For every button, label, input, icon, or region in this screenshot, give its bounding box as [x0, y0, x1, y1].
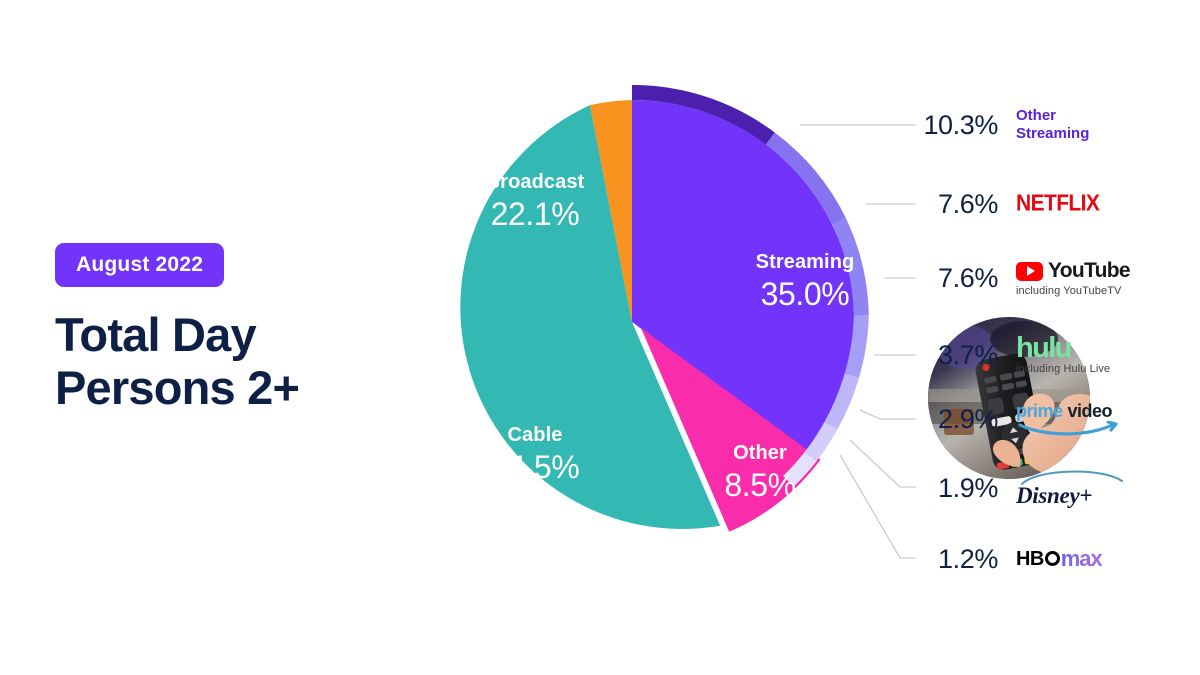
page-title: Total Day Persons 2+ — [55, 309, 385, 414]
legend-percent-netflix: 7.6% — [915, 189, 998, 220]
legend-item-netflix[interactable]: 7.6% NETFLIX — [915, 181, 1099, 227]
legend-logo-hbo-max: HB max — [1016, 546, 1102, 572]
date-badge: August 2022 — [55, 243, 224, 287]
max-wordmark: max — [1061, 546, 1102, 572]
legend-item-hulu[interactable]: 3.7% hulu including Hulu Live — [915, 332, 1110, 378]
legend-logo-netflix: NETFLIX — [1016, 192, 1099, 216]
legend-logo-youtube: YouTube including YouTubeTV — [1016, 259, 1130, 297]
youtube-sublabel: including YouTubeTV — [1016, 285, 1130, 297]
amazon-swoosh-icon — [1016, 421, 1124, 437]
disney-plus-wordmark: Disney+ — [1016, 483, 1128, 509]
legend-item-hbo-max[interactable]: 1.2% HB max — [915, 536, 1102, 582]
prime-wordmark: prime — [1016, 401, 1063, 422]
hbo-max-logo: HB max — [1016, 546, 1102, 572]
legend-percent-hbo-max: 1.2% — [915, 544, 998, 575]
legend-item-youtube[interactable]: 7.6% YouTube including YouTubeTV — [915, 255, 1130, 301]
legend-logo-prime-video: prime video — [1016, 401, 1124, 437]
legend-percent-hulu: 3.7% — [915, 340, 998, 371]
title-block: August 2022 Total Day Persons 2+ — [55, 243, 385, 414]
legend-percent-disney-plus: 1.9% — [915, 473, 998, 504]
infographic-canvas: August 2022 Total Day Persons 2+ — [0, 0, 1200, 675]
pie-chart: Broadcast 22.1% Streaming 35.0% Cable 34… — [372, 62, 892, 582]
legend-item-prime-video[interactable]: 2.9% prime video — [915, 396, 1124, 442]
hulu-logo: hulu — [1016, 335, 1110, 361]
video-wordmark: video — [1068, 401, 1113, 422]
legend-percent-other-streaming: 10.3% — [915, 110, 998, 141]
legend-logo-other-streaming: Other Streaming — [1016, 107, 1089, 142]
legend-logo-disney-plus: Disney+ — [1016, 467, 1128, 509]
youtube-wordmark: YouTube — [1048, 259, 1130, 283]
other-streaming-label: Other Streaming — [1016, 107, 1089, 142]
legend-item-other-streaming[interactable]: 10.3% Other Streaming — [915, 102, 1089, 148]
netflix-logo: NETFLIX — [1016, 191, 1099, 218]
youtube-play-icon — [1016, 262, 1043, 281]
pie-chart-svg — [372, 62, 892, 582]
hbo-o-icon — [1045, 551, 1060, 566]
legend-percent-youtube: 7.6% — [915, 263, 998, 294]
legend: 10.3% Other Streaming 7.6% NETFLIX 7.6% … — [915, 0, 1200, 675]
legend-item-disney-plus[interactable]: 1.9% Disney+ — [915, 465, 1128, 511]
legend-percent-prime-video: 2.9% — [915, 404, 998, 435]
hulu-sublabel: including Hulu Live — [1016, 363, 1110, 375]
hbo-wordmark: HB — [1016, 548, 1061, 571]
youtube-logo: YouTube — [1016, 259, 1130, 283]
prime-video-logo: prime video — [1016, 401, 1124, 422]
legend-logo-hulu: hulu including Hulu Live — [1016, 335, 1110, 375]
